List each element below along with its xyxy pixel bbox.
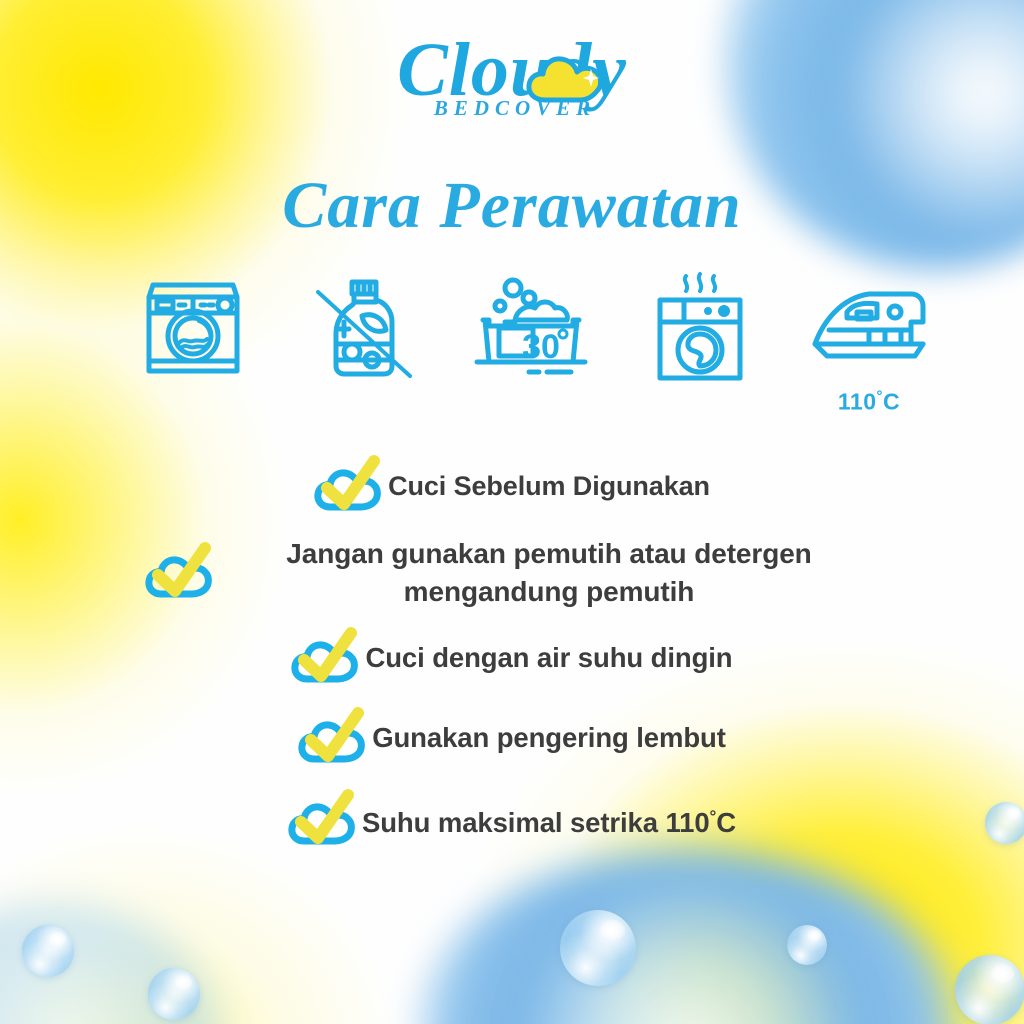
cloud-check-icon: [145, 542, 219, 604]
list-item: Suhu maksimal setrika 110°C: [0, 789, 1024, 851]
no-bleach-detergent-icon: [306, 272, 418, 384]
brand-subtitle: BEDCOVER: [428, 96, 596, 121]
cloud-check-icon: [314, 455, 388, 517]
care-symbols-row: 30: [118, 272, 944, 416]
wash-tub-30-degrees-icon: 30: [471, 272, 591, 384]
list-item-text: Suhu maksimal setrika 110: [362, 807, 710, 838]
care-instructions-poster: Cloudy BEDCOVER Cara Perawatan: [0, 0, 1024, 1024]
tumble-dryer-icon: [650, 272, 750, 384]
blue-blob-bottom: [420, 849, 960, 1024]
list-item-unit: C: [716, 807, 736, 838]
bubble-decoration: [560, 910, 636, 986]
care-symbol-wash: [118, 272, 268, 388]
iron-icon: [807, 272, 931, 384]
list-item: Gunakan pengering lembut: [0, 707, 1024, 769]
brand-logo: Cloudy BEDCOVER: [0, 28, 1024, 112]
care-symbol-tub-30: 30: [456, 272, 606, 388]
list-item: Jangan gunakan pemutih atau detergen men…: [0, 535, 1024, 611]
iron-temp-unit: C: [883, 389, 900, 415]
list-item: Cuci dengan air suhu dingin: [0, 627, 1024, 689]
washing-machine-icon: [141, 272, 245, 384]
list-item-label: Jangan gunakan pemutih atau detergen men…: [219, 535, 879, 611]
care-symbol-dry: [625, 272, 775, 388]
bubble-decoration: [955, 955, 1024, 1024]
care-symbol-no-bleach: [287, 272, 437, 388]
iron-temperature-caption: 110°C: [838, 388, 900, 416]
list-item: Cuci Sebelum Digunakan: [0, 455, 1024, 517]
cloud-check-icon: [288, 789, 362, 851]
care-checklist: Cuci Sebelum Digunakan Jangan gunakan pe…: [0, 455, 1024, 865]
iron-temp-value: 110: [838, 389, 877, 415]
cloud-check-icon: [291, 627, 365, 689]
cloud-check-icon: [298, 707, 372, 769]
page-title: Cara Perawatan: [0, 168, 1024, 244]
list-item-label: Suhu maksimal setrika 110°C: [362, 799, 736, 841]
list-item-label: Cuci Sebelum Digunakan: [388, 468, 710, 504]
list-item-label: Cuci dengan air suhu dingin: [365, 640, 732, 676]
bubble-decoration: [22, 925, 74, 977]
care-symbol-iron: 110°C: [794, 272, 944, 416]
bubble-decoration: [148, 968, 200, 1020]
svg-text:30: 30: [522, 328, 560, 366]
blue-blob-bottom-left: [0, 904, 220, 1024]
list-item-label: Gunakan pengering lembut: [372, 720, 726, 756]
bubble-decoration: [787, 925, 827, 965]
